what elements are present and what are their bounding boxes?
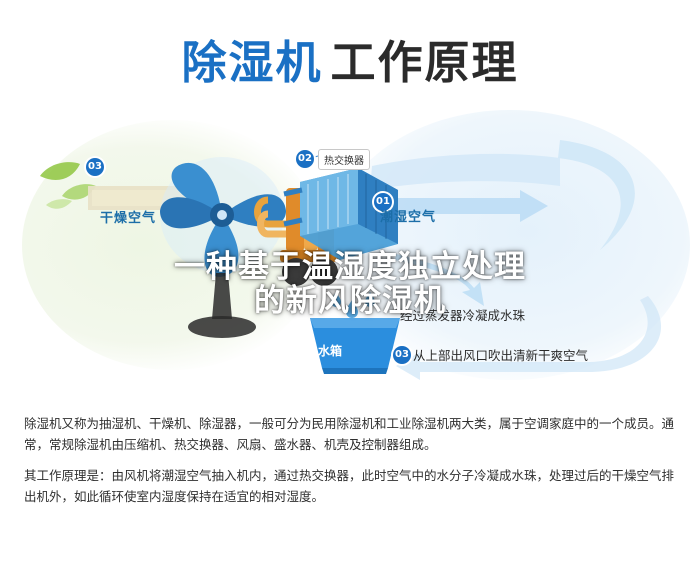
section-divider bbox=[0, 398, 700, 399]
poster-image: 除湿机工作原理 bbox=[0, 0, 700, 400]
label-outlet-air: 从上部出风口吹出清新干爽空气 bbox=[413, 345, 588, 364]
dehumidifier-diagram bbox=[0, 0, 700, 400]
label-dry-air: 干燥空气 bbox=[100, 207, 156, 226]
label-humid-air: 潮湿空气 bbox=[380, 206, 436, 225]
label-water-tank: 水箱 bbox=[318, 342, 342, 359]
overlay-headline: 一种基于温湿度独立处理 的新风除湿机 bbox=[0, 250, 700, 318]
article-paragraph-2-lead: 其工作原理是： bbox=[24, 468, 112, 483]
badge-02-heat-exchanger: 02 bbox=[296, 150, 314, 168]
overlay-headline-line2: 的新风除湿机 bbox=[0, 284, 700, 318]
article-paragraph-2: 其工作原理是：由风机将潮湿空气抽入机内，通过热交换器，此时空气中的水分子冷凝成水… bbox=[24, 465, 676, 507]
overlay-headline-line1: 一种基于温湿度独立处理 bbox=[0, 250, 700, 284]
article-paragraph-2-text: 由风机将潮湿空气抽入机内，通过热交换器，此时空气中的水分子冷凝成水珠，处理过后的… bbox=[24, 468, 674, 504]
label-heat-exchanger: 热交换器 bbox=[318, 149, 370, 170]
article-paragraph-1: 除湿机又称为抽湿机、干燥机、除湿器，一般可分为民用除湿机和工业除湿机两大类，属于… bbox=[24, 413, 676, 455]
badge-03-outlet: 03 bbox=[393, 346, 411, 364]
badge-03-dry: 03 bbox=[86, 158, 104, 176]
humid-air-arrow bbox=[370, 140, 635, 250]
article-body: 除湿机又称为抽湿机、干燥机、除湿器，一般可分为民用除湿机和工业除湿机两大类，属于… bbox=[24, 413, 676, 517]
